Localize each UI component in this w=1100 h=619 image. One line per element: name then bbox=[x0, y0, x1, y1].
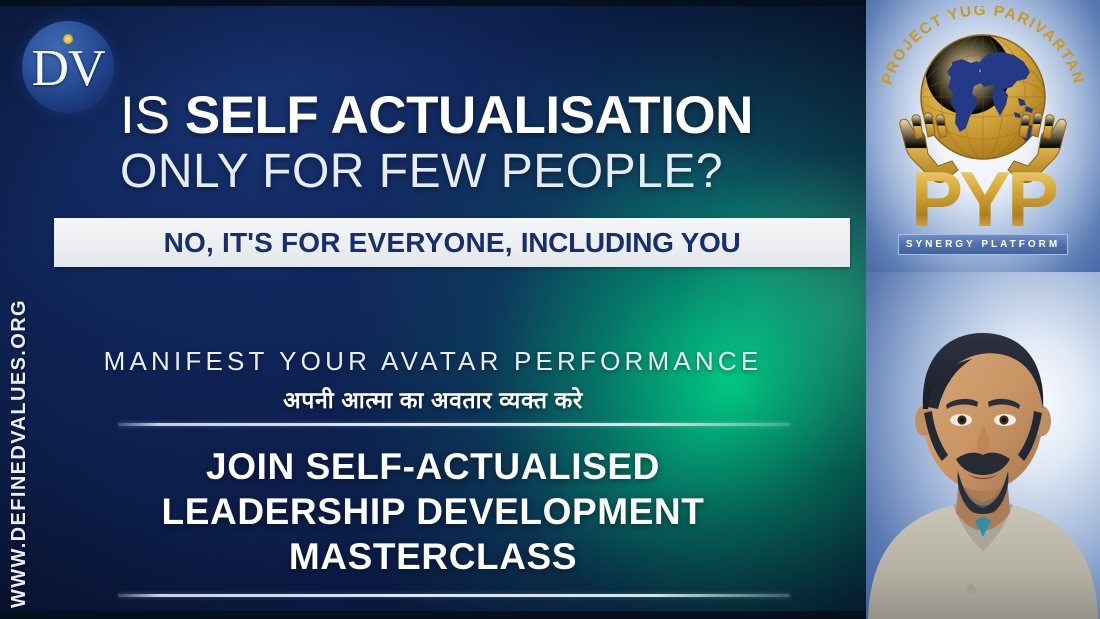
manifest-block: MANIFEST YOUR AVATAR PERFORMANCE अपनी आत… bbox=[0, 346, 866, 415]
answer-banner-heavy: INCLUDING YOU bbox=[521, 227, 741, 258]
headline-block: IS SELF ACTUALISATION ONLY FOR FEW PEOPL… bbox=[120, 88, 860, 198]
cta-block: JOIN SELF-ACTUALISED LEADERSHIP DEVELOPM… bbox=[0, 444, 866, 579]
cta-line-2: LEADERSHIP DEVELOPMENT bbox=[0, 489, 866, 534]
divider-top bbox=[118, 423, 790, 426]
pyp-monogram: PYP bbox=[868, 160, 1098, 238]
top-border bbox=[0, 0, 866, 6]
pyp-logo-tile: PROJECT YUG PARIVARTAN bbox=[866, 0, 1100, 272]
answer-banner: NO, IT'S FOR EVERYONE, INCLUDING YOU bbox=[54, 218, 850, 267]
right-column: PROJECT YUG PARIVARTAN bbox=[866, 0, 1100, 619]
headline-line-1-thin: IS bbox=[120, 86, 185, 145]
dv-logo: DV bbox=[22, 21, 114, 113]
headline-line-1: IS SELF ACTUALISATION bbox=[120, 88, 860, 144]
cta-line-1: JOIN SELF-ACTUALISED bbox=[0, 444, 866, 489]
divider-bottom bbox=[118, 594, 790, 597]
bottom-border bbox=[0, 611, 866, 619]
main-panel: DV WWW.DEFINEDVALUES.ORG IS SELF ACTUALI… bbox=[0, 0, 866, 619]
cta-line-3: MASTERCLASS bbox=[0, 534, 866, 579]
answer-banner-regular: NO, IT'S FOR EVERYONE, bbox=[164, 227, 521, 258]
website-url-vertical: WWW.DEFINEDVALUES.ORG bbox=[8, 268, 31, 608]
manifest-hindi: अपनी आत्मा का अवतार व्यक्त करे bbox=[0, 383, 866, 415]
speaker-portrait bbox=[866, 289, 1100, 619]
headline-line-1-bold: SELF ACTUALISATION bbox=[185, 86, 753, 145]
synergy-platform-bar: SYNERGY PLATFORM bbox=[898, 234, 1068, 255]
dv-monogram: DV bbox=[22, 41, 114, 97]
answer-banner-text: NO, IT'S FOR EVERYONE, INCLUDING YOU bbox=[164, 227, 741, 259]
portrait-tile bbox=[866, 272, 1100, 619]
synergy-platform-label: SYNERGY PLATFORM bbox=[906, 239, 1060, 250]
headline-line-2: ONLY FOR FEW PEOPLE? bbox=[120, 146, 860, 198]
promotional-poster: DV WWW.DEFINEDVALUES.ORG IS SELF ACTUALI… bbox=[0, 0, 1100, 619]
manifest-english: MANIFEST YOUR AVATAR PERFORMANCE bbox=[0, 346, 866, 377]
